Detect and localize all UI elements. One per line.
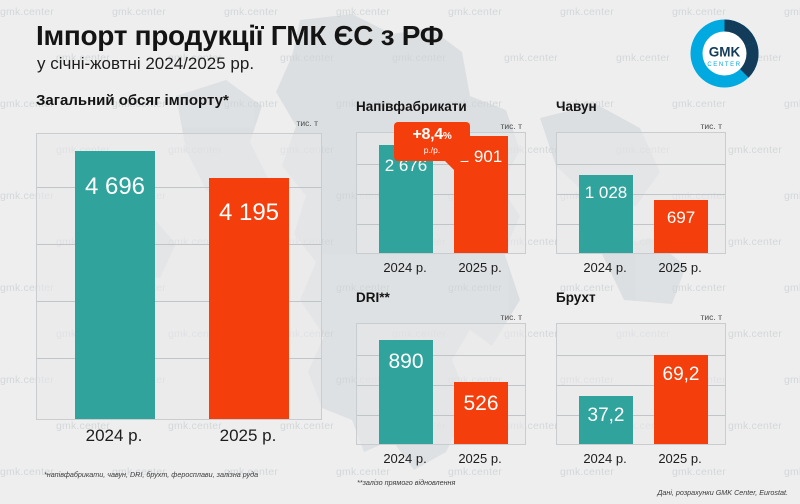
x-label-2025: 2025 р. [653,261,707,274]
logo-main-text: GMK [709,45,741,60]
bar-2024: 2 676 [379,145,433,253]
footnote-secondary: **залізо прямого відновлення [357,478,557,488]
page-title: Імпорт продукції ГМК ЄС з РФ [36,22,443,50]
chart-pig-iron: Чавун тис. т 1 028 697 2024 р. 2025 р. [556,100,726,280]
bar-2024: 4 696 [75,151,155,419]
x-label-2025: 2025 р. [453,261,507,274]
plot-area: 890 526 [356,323,526,445]
chart-total-import: Загальний обсяг імпорту* тис. т 4 696 4 … [36,93,322,461]
chart-title: Напівфабрикати [356,100,467,114]
chart-unit-label: тис. т [700,122,722,131]
chart-semi-finished: Напівфабрикати тис. т 2 676 2 901 +8,4% … [356,100,526,280]
bar-value-2025: 69,2 [654,365,708,384]
x-label-2024: 2024 р. [74,427,154,444]
bar-value-2024: 4 696 [75,175,155,199]
bar-value-2025: 697 [654,209,708,226]
yoy-percent-value: +8,4% [413,126,452,143]
chart-title: Загальний обсяг імпорту* [36,93,229,108]
bar-2025: 4 195 [209,178,289,419]
bar-value-2024: 890 [379,351,433,372]
chart-unit-label: тис. т [500,313,522,322]
page-subtitle: у січні-жовтні 2024/2025 рр. [37,55,254,72]
chart-title: Брухт [556,291,596,305]
x-label-2024: 2024 р. [578,261,632,274]
bar-value-2025: 526 [454,393,508,414]
x-label-2024: 2024 р. [378,452,432,465]
bar-2025: 697 [654,200,708,253]
plot-area: 1 028 697 [556,132,726,254]
gmk-center-logo: GMK CENTER [686,15,763,92]
source-note: Дані, розрахунки GMK Center, Eurostat. [657,488,788,497]
callout-tail [444,160,456,172]
yoy-callout: +8,4% р./р. [394,122,470,161]
chart-unit-label: тис. т [500,122,522,131]
bar-2025: 69,2 [654,355,708,444]
bar-2024: 1 028 [579,175,633,253]
bar-2025: 526 [454,382,508,444]
chart-scrap: Брухт тис. т 37,2 69,2 2024 р. 2025 р. [556,291,726,471]
x-label-2024: 2024 р. [578,452,632,465]
chart-dri: DRI** тис. т 890 526 2024 р. 2025 р. [356,291,526,471]
bar-value-2024: 1 028 [579,184,633,201]
yoy-period-label: р./р. [401,146,463,155]
chart-unit-label: тис. т [700,313,722,322]
chart-title: DRI** [356,291,390,305]
x-label-2025: 2025 р. [453,452,507,465]
footnote-primary: *напівфабрикати, чавун, DRI, брухт, феро… [44,470,259,480]
chart-unit-label: тис. т [296,119,318,128]
bar-2024: 37,2 [579,396,633,444]
gridline [557,164,725,165]
x-label-2024: 2024 р. [378,261,432,274]
plot-area: 4 696 4 195 [36,133,322,420]
plot-area: 37,2 69,2 [556,323,726,445]
x-label-2025: 2025 р. [653,452,707,465]
bar-value-2024: 37,2 [579,406,633,425]
x-label-2025: 2025 р. [208,427,288,444]
bar-value-2025: 4 195 [209,201,289,225]
logo-sub-text: CENTER [707,62,741,68]
bar-2024: 890 [379,340,433,444]
chart-title: Чавун [556,100,597,114]
